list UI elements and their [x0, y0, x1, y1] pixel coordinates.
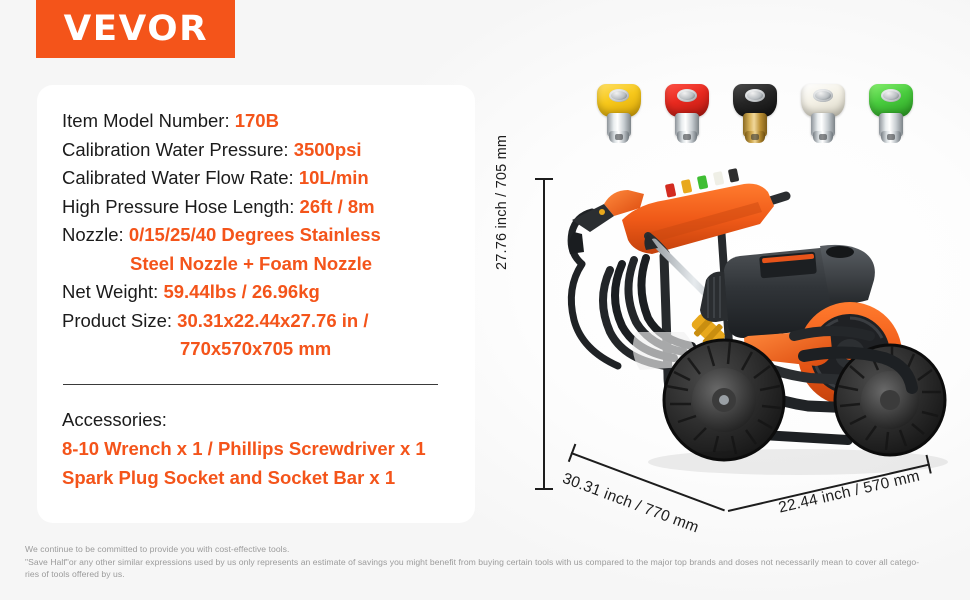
spec-list: Item Model Number: 170B Calibration Wate… — [62, 107, 457, 364]
specification-card: Item Model Number: 170B Calibration Wate… — [37, 85, 475, 523]
nozzle-tip-group — [596, 80, 916, 146]
nozzle-collar — [745, 131, 765, 143]
spec-label: Nozzle: — [62, 224, 124, 245]
spec-label: Item Model Number: — [62, 110, 230, 131]
spec-value: 26ft / 8m — [300, 196, 375, 217]
accessories-line-1: 8-10 Wrench x 1 / Phillips Screwdriver x… — [62, 434, 457, 463]
vevor-logo-text: VEVOR — [63, 12, 208, 47]
spec-row-product-size: Product Size: 30.31x22.44x27.76 in / — [62, 307, 457, 336]
spec-value: 0/15/25/40 Degrees Stainless — [129, 224, 381, 245]
nozzle-collar — [677, 131, 697, 143]
footer-line-1: We continue to be committed to provide y… — [25, 543, 955, 556]
spec-row-nozzle-continuation: Steel Nozzle + Foam Nozzle — [62, 250, 457, 279]
footer-disclaimer: We continue to be committed to provide y… — [25, 543, 955, 581]
black-nozzle-soap-icon — [732, 84, 778, 146]
green-nozzle-25-degree-icon — [868, 84, 914, 146]
spec-value: 170B — [235, 110, 279, 131]
nozzle-collar — [813, 131, 833, 143]
footer-line-3: ries of tools offered by us. — [25, 568, 955, 581]
accessories-line-2: Spark Plug Socket and Socket Bar x 1 — [62, 463, 457, 492]
spec-value: 59.44lbs / 26.96kg — [163, 281, 319, 302]
spec-value: 3500psi — [294, 139, 362, 160]
nozzle-collar — [609, 131, 629, 143]
white-nozzle-40-degree-icon — [800, 84, 846, 146]
spec-value: 30.31x22.44x27.76 in / — [177, 310, 368, 331]
spec-value: 10L/min — [299, 167, 369, 188]
footer-line-2: "Save Half"or any other similar expressi… — [25, 556, 955, 569]
section-divider — [63, 384, 438, 385]
accessories-title: Accessories: — [62, 405, 457, 434]
red-nozzle-0-degree-icon — [664, 84, 710, 146]
vevor-logo: VEVOR — [36, 0, 235, 58]
spec-label: Calibrated Water Flow Rate: — [62, 167, 294, 188]
dimension-height-label: 27.76 inch / 705 mm — [494, 135, 510, 270]
spec-row-model: Item Model Number: 170B — [62, 107, 457, 136]
spec-row-nozzle: Nozzle: 0/15/25/40 Degrees Stainless — [62, 221, 457, 250]
spec-label: Product Size: — [62, 310, 172, 331]
spec-row-flow-rate: Calibrated Water Flow Rate: 10L/min — [62, 164, 457, 193]
spec-row-net-weight: Net Weight: 59.44lbs / 26.96kg — [62, 278, 457, 307]
spec-label: Calibration Water Pressure: — [62, 139, 289, 160]
spec-row-pressure: Calibration Water Pressure: 3500psi — [62, 136, 457, 165]
spec-row-product-size-continuation: 770x570x705 mm — [62, 335, 457, 364]
dimension-height-line — [543, 178, 545, 490]
spec-label: High Pressure Hose Length: — [62, 196, 294, 217]
spec-label: Net Weight: — [62, 281, 158, 302]
product-image-pressure-washer: VEVOR — [548, 160, 970, 495]
nozzle-collar — [881, 131, 901, 143]
yellow-nozzle-15-degree-icon — [596, 84, 642, 146]
spec-row-hose-length: High Pressure Hose Length: 26ft / 8m — [62, 193, 457, 222]
accessories-block: Accessories: 8-10 Wrench x 1 / Phillips … — [62, 405, 457, 492]
